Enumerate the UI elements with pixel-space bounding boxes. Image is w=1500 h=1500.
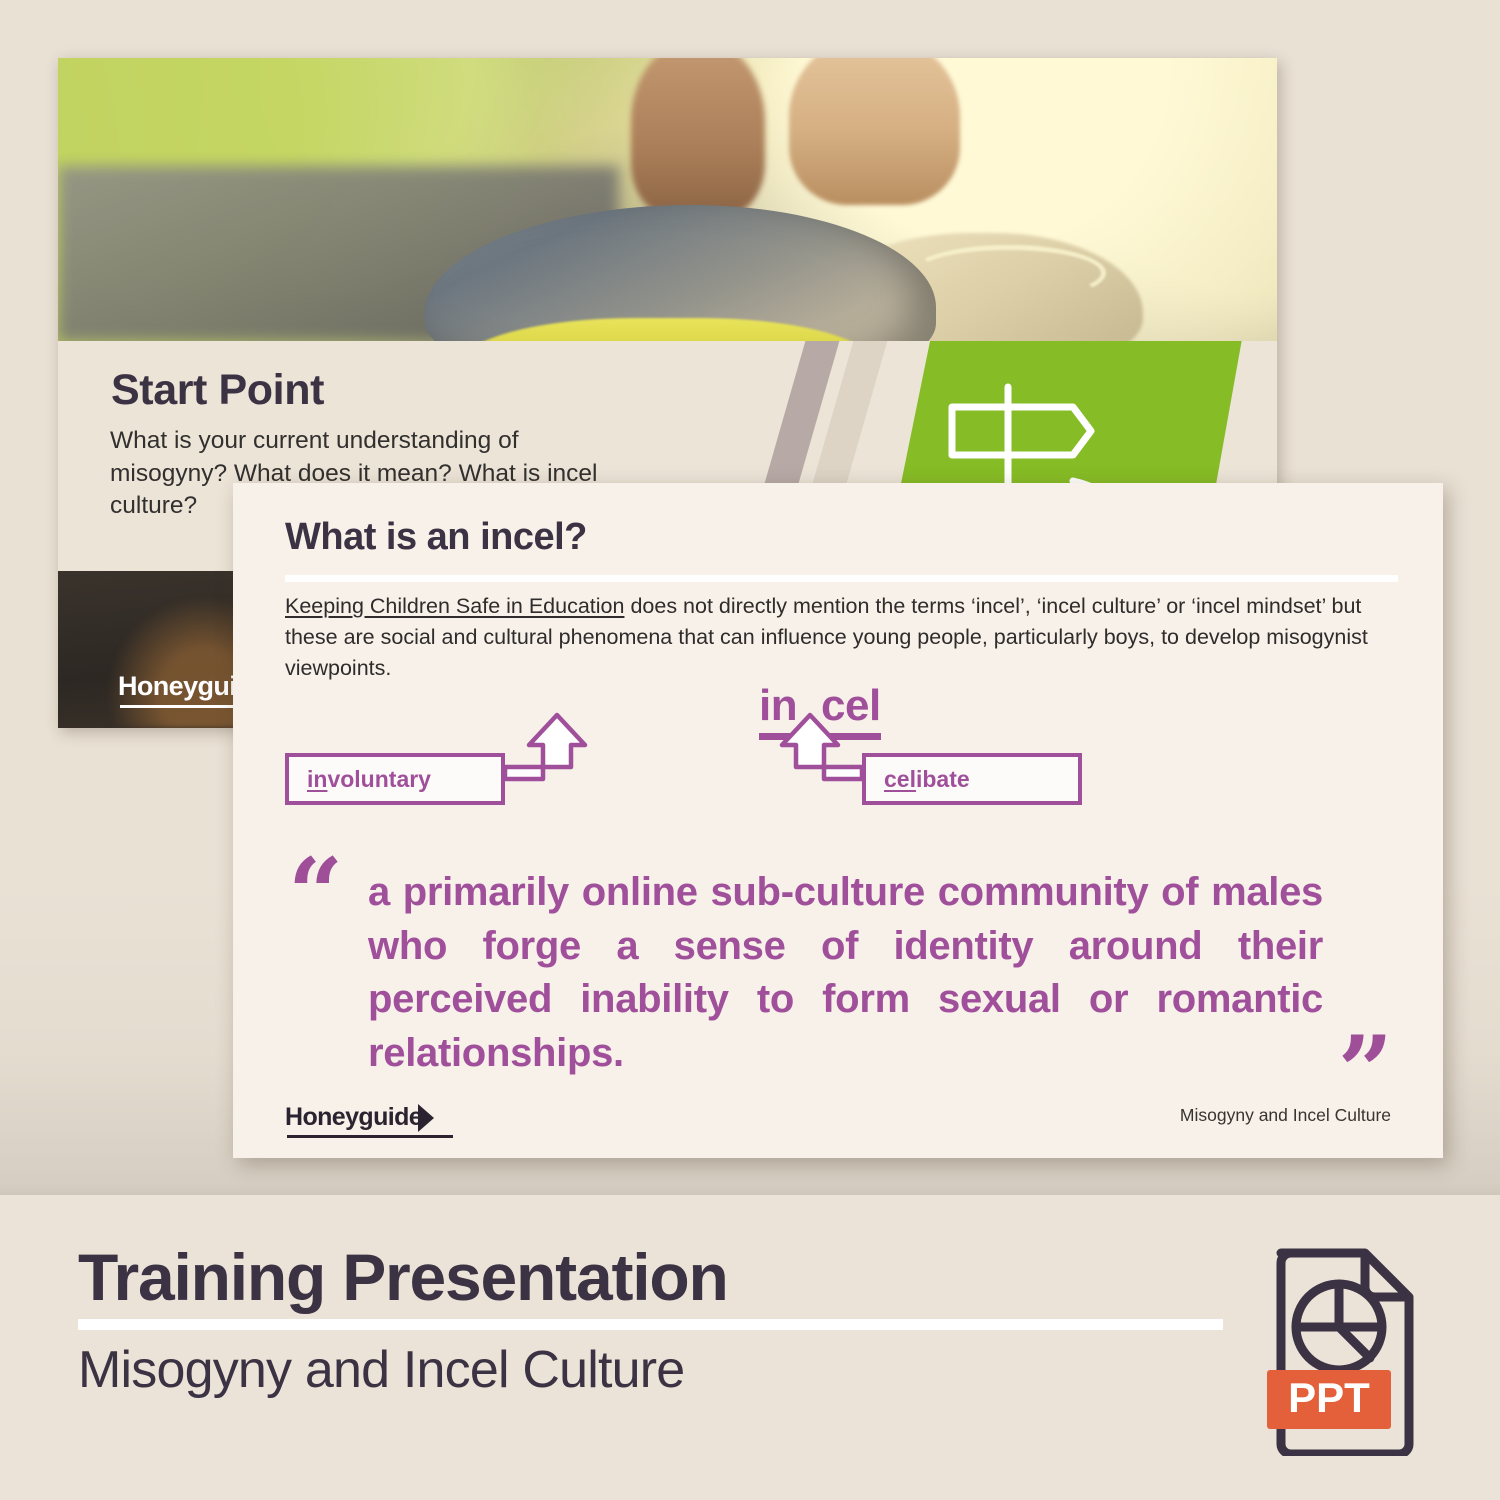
ppt-icon-pie-slice-4 [1339,1327,1370,1358]
front-slide-body-text: Keeping Children Safe in Education does … [285,591,1403,684]
diagram-box-celibate: celibate [862,753,1082,805]
back-slide-title: Start Point [111,366,324,415]
honeyguide-logo-underline [287,1135,453,1138]
quote-close-mark: ” [1338,1043,1393,1101]
diagram-box-involuntary: involuntary [285,753,505,805]
body-text-link[interactable]: Keeping Children Safe in Education [285,594,624,618]
diagram-box-celibate-rest: ibate [916,766,970,792]
incel-word-breakdown-diagram: in cel involuntary celibate [285,681,1395,821]
banner-divider-rule [78,1319,1223,1330]
diagram-box-involuntary-rest: voluntary [327,766,431,792]
quote-text: a primarily online sub-culture community… [368,866,1323,1134]
front-slide-title-rule [285,575,1398,582]
honeyguide-logo-front-slide[interactable]: Honeyguide [285,1103,434,1132]
diagram-box-involuntary-prefix: in [307,766,327,792]
front-slide-title: What is an incel? [285,516,587,559]
arrow-celibate-to-cel [782,715,862,779]
arrow-involuntary-to-in [505,715,585,779]
bottom-banner: Training Presentation Misogyny and Incel… [0,1195,1500,1500]
banner-subtitle: Misogyny and Incel Culture [78,1340,684,1400]
slide-what-is-an-incel[interactable]: What is an incel? Keeping Children Safe … [233,483,1443,1158]
photo-shoe-lace [911,245,1106,302]
screenshot-stage: Start Point What is your current underst… [0,0,1500,1500]
honeyguide-logo-arrow-icon [418,1104,434,1132]
banner-title: Training Presentation [78,1239,728,1315]
ppt-icon-svg: PPT [1267,1241,1422,1456]
honeyguide-logo-text: Honeyguide [285,1103,422,1132]
front-slide-footnote: Misogyny and Incel Culture [1180,1105,1391,1126]
photo-leg-far [631,58,765,216]
quote-open-mark: “ [288,865,343,923]
diagram-box-celibate-prefix: cel [884,766,916,792]
slide-photo-running-shoes [58,58,1277,341]
photo-leg-near [789,58,960,205]
ppt-document-icon[interactable]: PPT [1267,1241,1422,1456]
ppt-badge-label: PPT [1288,1374,1370,1421]
